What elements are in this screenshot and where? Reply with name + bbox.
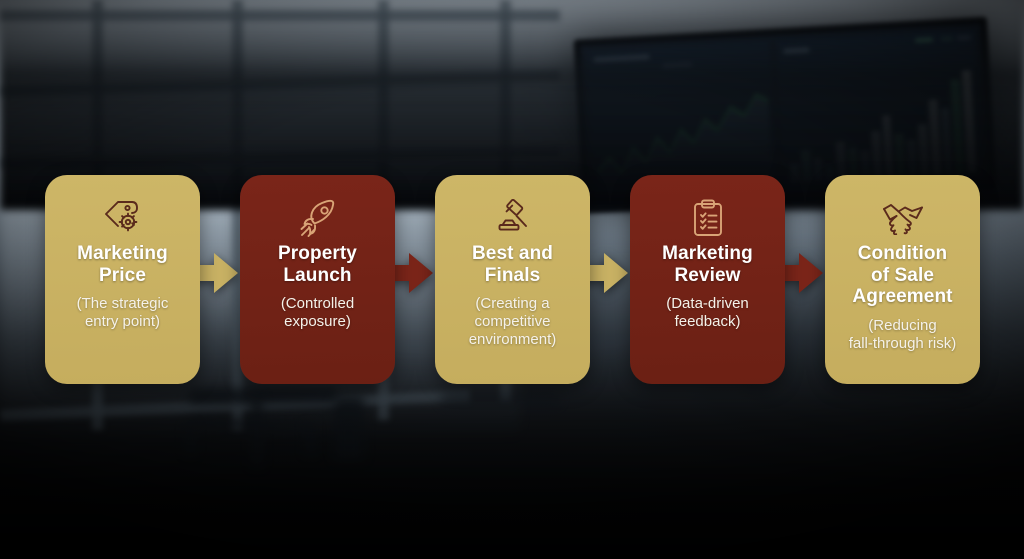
step-card-condition-of-sale-agreement[interactable]: Condition of Sale Agreement (Reducing fa… [825,175,980,384]
clipboard-checklist-icon [691,197,725,239]
step-title: Marketing Price [77,243,168,286]
process-flow: Marketing Price (The strategic entry poi… [0,175,1024,384]
step-title: Condition of Sale Agreement [852,243,952,308]
gavel-icon [493,197,533,239]
step-title: Property Launch [278,243,357,286]
step-card-property-launch[interactable]: Property Launch (Controlled exposure) [240,175,395,384]
step-subtitle: (Reducing fall-through risk) [849,317,957,353]
step-card-marketing-review[interactable]: Marketing Review (Data-driven feedback) [630,175,785,384]
rocket-icon [298,197,338,239]
step-subtitle: (Data-driven feedback) [666,295,749,331]
step-subtitle: (Controlled exposure) [281,295,354,331]
step-card-marketing-price[interactable]: Marketing Price (The strategic entry poi… [45,175,200,384]
step-subtitle: (The strategic entry point) [77,295,169,331]
price-tag-gear-icon [102,197,144,239]
step-title: Best and Finals [472,243,553,286]
flowchart-graphic: Marketing Price (The strategic entry poi… [0,0,1024,559]
step-subtitle: (Creating a competitive environment) [469,295,557,349]
handshake-icon [881,197,925,239]
step-card-best-and-finals[interactable]: Best and Finals (Creating a competitive … [435,175,590,384]
step-title: Marketing Review [662,243,753,286]
